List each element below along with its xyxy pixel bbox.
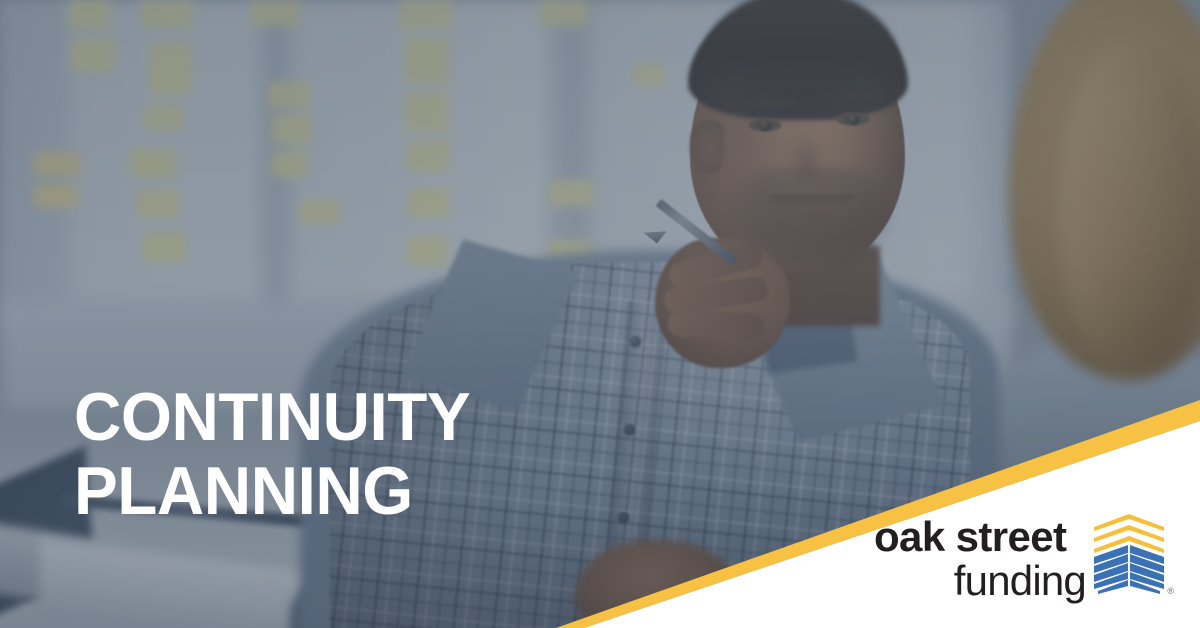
page-title: CONTINUITY PLANNING	[74, 380, 470, 528]
marketing-banner: CONTINUITY PLANNING oak street funding	[0, 0, 1200, 628]
brand-wordmark-line1: oak street	[874, 512, 1086, 558]
building-mark-icon	[1092, 512, 1166, 594]
brand-wordmark-line2: funding	[874, 558, 1086, 602]
brand-logo[interactable]: oak street funding	[874, 512, 1174, 598]
registered-trademark-icon: ®	[1167, 586, 1174, 596]
brand-wordmark: oak street funding	[874, 512, 1086, 602]
